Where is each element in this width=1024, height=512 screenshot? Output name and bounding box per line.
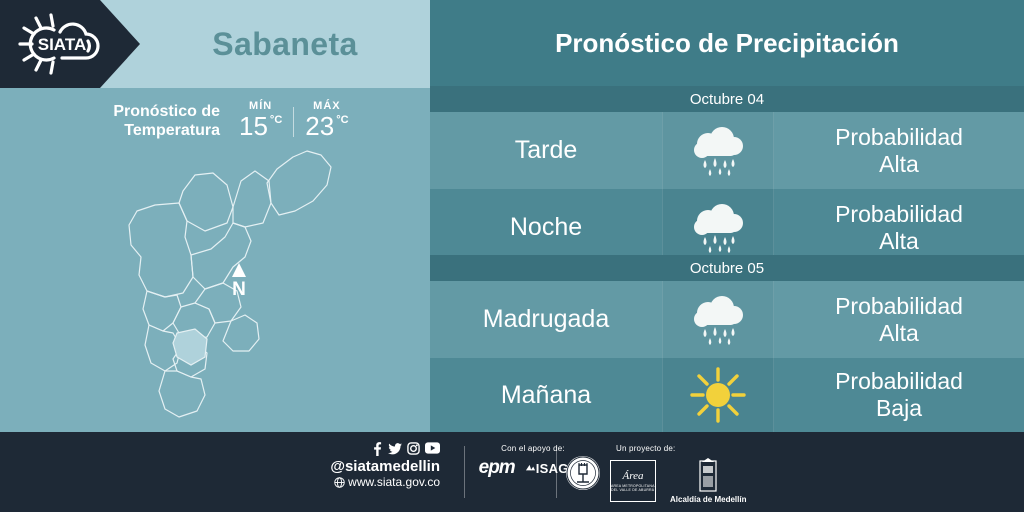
area-metropolitana-logo: Área AREA METROPOLITANA DEL VALLE DE ABU…	[610, 460, 656, 502]
temperature-min-unit: °C	[270, 114, 282, 126]
probability-line2: Alta	[879, 228, 919, 255]
page-title: Sabaneta	[140, 0, 430, 88]
compass-north-icon: N	[232, 263, 246, 300]
instagram-icon[interactable]	[407, 442, 420, 455]
website-line[interactable]: www.siata.gov.co	[300, 475, 440, 490]
left-panel: SIATA Sabaneta Pronóstico de Temperatura…	[0, 0, 430, 432]
right-panel: Pronóstico de Precipitación Octubre 04 T…	[430, 0, 1024, 432]
probability-cell: Probabilidad Alta	[774, 112, 1024, 189]
udea-seal-block	[566, 456, 600, 490]
sun-icon	[662, 358, 774, 432]
footer-divider-2	[556, 446, 557, 498]
youtube-icon[interactable]	[425, 442, 440, 454]
rain-cloud-icon	[662, 112, 774, 189]
social-handle[interactable]: @siatamedellin	[300, 458, 440, 475]
twitter-icon[interactable]	[388, 442, 402, 456]
epm-logo: epm	[479, 457, 515, 479]
siata-logo-badge: SIATA	[0, 0, 140, 88]
probability-cell: Probabilidad Baja	[774, 358, 1024, 432]
probability-line2: Baja	[876, 395, 922, 422]
probability-line2: Alta	[879, 151, 919, 178]
temperature-values: MÍN 15 °C MÁX 23 °C	[230, 100, 358, 139]
temperature-label-line2: Temperatura	[124, 122, 220, 139]
period-label: Mañana	[430, 358, 662, 432]
facebook-icon[interactable]	[371, 442, 383, 456]
temperature-label: Pronóstico de Temperatura	[60, 102, 220, 140]
infographic-root: SIATA Sabaneta Pronóstico de Temperatura…	[0, 0, 1024, 512]
probability-cell: Probabilidad Alta	[774, 281, 1024, 358]
universidad-antioquia-seal	[566, 456, 600, 490]
website-url[interactable]: www.siata.gov.co	[348, 475, 440, 490]
social-icons	[300, 442, 440, 456]
precipitation-title: Pronóstico de Precipitación	[430, 0, 1024, 86]
probability-line2: Alta	[879, 320, 919, 347]
sun-cloud-icon: SIATA	[10, 8, 115, 80]
social-block: @siatamedellin www.siata.gov.co	[300, 442, 440, 490]
date-band-day2: Octubre 05	[430, 255, 1024, 281]
forecast-row: Tarde Probabilidad Alta	[430, 112, 1024, 189]
alcaldia-label: Alcaldía de Medellín	[670, 495, 746, 504]
project-block: Un proyecto de: Área AREA METROPOLITANA …	[610, 444, 800, 504]
temperature-max-value: 23	[305, 113, 334, 139]
siata-logo-text: SIATA	[38, 35, 86, 54]
temperature-max: MÁX 23 °C	[296, 100, 357, 139]
globe-icon	[334, 477, 345, 488]
rain-cloud-icon	[662, 281, 774, 358]
isagen-mark-icon	[525, 463, 536, 474]
area-subtitle: AREA METROPOLITANA DEL VALLE DE ABURRÁ	[611, 484, 655, 492]
compass-label: N	[232, 279, 246, 300]
temperature-min: MÍN 15 °C	[230, 100, 291, 139]
footer: @siatamedellin www.siata.gov.co Con el a…	[0, 432, 1024, 512]
temperature-max-unit: °C	[336, 114, 348, 126]
probability-line1: Probabilidad	[835, 124, 963, 151]
temperature-divider	[293, 107, 294, 137]
left-header: SIATA Sabaneta	[0, 0, 430, 88]
temperature-label-line1: Pronóstico de	[113, 103, 220, 120]
footer-divider-1	[464, 446, 465, 498]
date-band-day1: Octubre 04	[430, 86, 1024, 112]
forecast-row: Mañana Probabilidad Baja	[430, 358, 1024, 432]
valley-map: N	[55, 145, 385, 430]
project-caption: Un proyecto de:	[610, 444, 800, 453]
alcaldia-medellin-logo: Alcaldía de Medellín	[670, 457, 746, 504]
probability-line1: Probabilidad	[835, 293, 963, 320]
support-caption: Con el apoyo de:	[478, 444, 588, 453]
temperature-min-value: 15	[239, 113, 268, 139]
alcaldia-emblem-icon	[697, 457, 719, 493]
area-signature: Área	[623, 470, 644, 482]
period-label: Tarde	[430, 112, 662, 189]
forecast-row: Madrugada Probabilidad Alta	[430, 281, 1024, 358]
period-label: Madrugada	[430, 281, 662, 358]
probability-line1: Probabilidad	[835, 368, 963, 395]
probability-line1: Probabilidad	[835, 201, 963, 228]
